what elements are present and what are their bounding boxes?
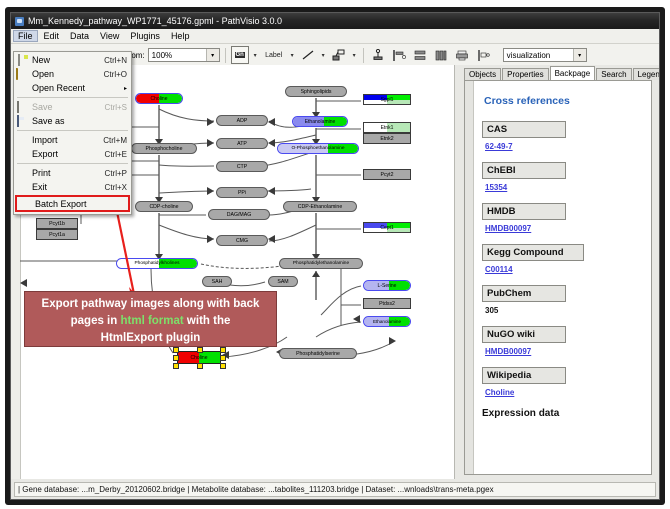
gene-product-tool[interactable]: Gn (231, 46, 249, 64)
file-menu-label: Import (32, 135, 103, 145)
file-menu-item-batch-export[interactable]: Batch Export (15, 195, 130, 212)
callout-highlight: html format (120, 315, 183, 327)
node-label: ADP (237, 118, 248, 124)
side-panel-region: Objects Properties Backpage Search Legen… (455, 65, 659, 479)
menu-help[interactable]: Help (166, 30, 195, 42)
node-ppi[interactable]: PPi (216, 187, 268, 198)
shape-caret-icon[interactable]: ▾ (351, 52, 358, 59)
node-label: Cept1 (380, 225, 393, 231)
import-icon (16, 135, 29, 146)
shape-tool[interactable] (330, 46, 348, 64)
node-gene-cept1[interactable]: Cept1 (363, 222, 411, 233)
menu-plugins[interactable]: Plugins (125, 30, 165, 42)
tab-properties[interactable]: Properties (502, 68, 548, 80)
visualization-combobox[interactable]: visualization ▾ (503, 48, 587, 62)
node-label: Ptdss2 (379, 301, 395, 307)
node-phosphatidylserine[interactable]: Phosphatidylserine (279, 348, 357, 359)
file-menu-accel: Ctrl+X (105, 183, 129, 192)
blank-icon (16, 182, 29, 193)
file-menu-label: Batch Export (35, 199, 126, 209)
statusbar-text: | Gene database: ...m_Derby_20120602.bri… (14, 482, 656, 497)
xref-label-hmdb: HMDB (482, 203, 566, 220)
visualization-chevron-down-icon[interactable]: ▾ (573, 49, 586, 61)
xref-value-nugo-wiki[interactable]: HMDB00097 (485, 347, 643, 356)
expression-data-title: Expression data (482, 408, 643, 419)
file-menu-label: Save (32, 102, 105, 112)
node-label: Etnk1 (381, 125, 394, 131)
file-menu-separator-3 (17, 163, 128, 164)
node-gene-pcyt2[interactable]: Pcyt2 (363, 169, 411, 180)
export-icon (16, 149, 29, 160)
xref-label-pubchem: PubChem (482, 285, 566, 302)
node-atp[interactable]: ATP (216, 138, 268, 149)
node-label: Pcyt2 (381, 172, 394, 178)
node-label: CMG (236, 238, 248, 244)
file-menu-item-open[interactable]: Open Ctrl+O (14, 67, 131, 81)
print-icon (455, 49, 469, 62)
node-cdp-choline[interactable]: CDP-choline (135, 201, 193, 212)
node-phosphatidylcholines[interactable]: Phosphatidylkholines (116, 258, 198, 269)
zoom-value: 100% (152, 51, 172, 60)
node-phosphatidylethanolamine[interactable]: Phosphatidylethanolamine (279, 258, 363, 269)
resize-handle-n[interactable] (197, 347, 203, 353)
align-columns-icon (434, 49, 448, 62)
window-title: Mm_Kennedy_pathway_WP1771_45176.gpml - P… (28, 16, 282, 26)
tab-backpage[interactable]: Backpage (550, 66, 596, 80)
file-menu-label: New (32, 55, 104, 65)
xref-link-chebi[interactable]: 15354 (485, 183, 507, 192)
anchor-tool-icon (371, 49, 385, 62)
node-sam[interactable]: SAM (268, 276, 298, 287)
node-cmg[interactable]: CMG (216, 235, 268, 246)
node-label: Ethanolamine (305, 119, 336, 125)
annotation-callout: Export pathway images along with back pa… (24, 291, 277, 347)
align-columns-tool[interactable] (432, 46, 450, 64)
xref-value-wikipedia[interactable]: Choline (485, 388, 643, 397)
resize-handle-nw[interactable] (173, 347, 179, 353)
callout-line-2-pre: pages in (71, 315, 121, 327)
cross-references-title: Cross references (484, 95, 643, 107)
node-label: Sphingolipids (301, 89, 332, 95)
node-sah[interactable]: SAH (202, 276, 232, 287)
node-ctp[interactable]: CTP (216, 161, 268, 172)
node-label: O-Phosphoethanolamine (291, 146, 344, 151)
tab-search[interactable]: Search (596, 68, 631, 80)
file-menu-label: Open Recent (32, 83, 124, 93)
file-menu-item-open-recent[interactable]: Open Recent ▸ (14, 81, 131, 95)
xref-label-wikipedia: Wikipedia (482, 367, 566, 384)
xref-link-kegg-compound[interactable]: C00114 (485, 265, 513, 274)
node-gene-sgpl1[interactable]: Sgpl1 (363, 94, 411, 105)
toolbar-separator-2 (363, 48, 364, 63)
node-label: CDP-choline (149, 204, 178, 210)
node-cdp-ethanolamine[interactable]: CDP-Ethanolamine (283, 201, 357, 212)
xref-label-nugo-wiki: NuGO wiki (482, 326, 566, 343)
xref-value-hmdb[interactable]: HMDB00097 (485, 224, 643, 233)
menubar: File Edit Data View Plugins Help (11, 29, 659, 44)
callout-line-1: Export pathway images along with back (25, 296, 276, 313)
order-icon (476, 49, 490, 62)
xref-value-pubchem: 305 (485, 306, 643, 315)
label-icon: Label (263, 52, 284, 59)
window-titlebar: Mm_Kennedy_pathway_WP1771_45176.gpml - P… (11, 13, 659, 29)
anchor-tool[interactable] (369, 46, 387, 64)
side-panel-tabs: Objects Properties Backpage Search Legen… (455, 65, 659, 80)
node-label: CTP (237, 164, 247, 170)
menu-file[interactable]: File (13, 30, 38, 42)
file-menu-item-save[interactable]: Save Ctrl+S (14, 100, 131, 114)
file-menu-item-import[interactable]: Import Ctrl+M (14, 133, 131, 147)
line-caret-icon[interactable]: ▾ (320, 52, 327, 59)
file-menu-item-print[interactable]: Print Ctrl+P (14, 166, 131, 180)
file-menu-accel: Ctrl+P (105, 169, 129, 178)
blank-icon (19, 198, 32, 209)
menu-edit[interactable]: Edit (39, 30, 65, 42)
submenu-chevron-right-icon: ▸ (124, 85, 129, 92)
order-tool[interactable] (474, 46, 492, 64)
print-tool[interactable] (453, 46, 471, 64)
file-menu-item-exit[interactable]: Exit Ctrl+X (14, 180, 131, 194)
callout-line-2: pages in html format with the (25, 313, 276, 330)
chevron-down-icon[interactable]: ▾ (206, 49, 219, 61)
node-l-serine[interactable]: L-Serine (363, 280, 411, 291)
xref-value-cas[interactable]: 62-49-7 (485, 142, 643, 151)
file-menu-accel: Ctrl+M (103, 136, 129, 145)
file-menu-separator-2 (17, 130, 128, 131)
xref-link-hmdb[interactable]: HMDB00097 (485, 224, 531, 233)
file-menu-label: Export (32, 149, 105, 159)
file-menu-label: Open (32, 69, 104, 79)
node-dag-mag[interactable]: DAG/MAG (208, 209, 270, 220)
menu-data[interactable]: Data (65, 30, 94, 42)
label-caret-icon[interactable]: ▾ (289, 52, 296, 59)
resize-handle-e[interactable] (220, 355, 226, 361)
node-label: CDP-Ethanolamine (298, 204, 342, 210)
node-label: Phosphatidylserine (296, 351, 340, 357)
resize-handle-w[interactable] (173, 355, 179, 361)
node-label: ATP (237, 141, 247, 147)
save-as-disk-icon (16, 116, 29, 127)
save-disk-icon (16, 102, 29, 113)
node-label: L-Serine (378, 283, 397, 289)
gene-product-icon: Gn (235, 52, 245, 58)
line-tool[interactable] (299, 46, 317, 64)
node-ethanolamine[interactable]: Ethanolamine (292, 116, 348, 127)
align-left-icon (392, 49, 406, 62)
pathvisio-window: Mm_Kennedy_pathway_WP1771_45176.gpml - P… (10, 12, 660, 500)
node-label: PPi (238, 190, 246, 196)
label-tool[interactable]: Label (262, 46, 286, 64)
file-menu-item-new[interactable]: New Ctrl+N (14, 53, 131, 67)
menu-view[interactable]: View (95, 30, 124, 42)
blank-icon (16, 83, 29, 94)
node-gene-pcyt1b[interactable]: Pcyt1b (36, 218, 78, 229)
resize-handle-se[interactable] (220, 363, 226, 369)
line-tool-icon (301, 49, 315, 61)
file-menu-label: Save as (32, 116, 127, 126)
node-gene-etnk1[interactable]: Etnk1 (363, 122, 411, 133)
toolbar-separator (225, 48, 226, 63)
resize-handle-sw[interactable] (173, 363, 179, 369)
resize-handle-ne[interactable] (220, 347, 226, 353)
node-label: Pcyt1a (49, 232, 65, 238)
file-menu-dropdown[interactable]: New Ctrl+N Open Ctrl+O Open Recent ▸ Sav… (13, 51, 132, 215)
node-gene-pcyt1a[interactable]: Pcyt1a (36, 229, 78, 240)
node-ethanolamine-right[interactable]: Ethanolamine (363, 316, 411, 327)
xref-value-chebi[interactable]: 15354 (485, 183, 643, 192)
node-label: DAG/MAG (227, 212, 252, 218)
visualization-value: visualization (507, 51, 551, 60)
node-label: SAM (277, 279, 288, 285)
node-choline-selected[interactable]: Choline (177, 351, 221, 364)
gene-product-caret-icon[interactable]: ▾ (252, 52, 259, 59)
align-rows-tool[interactable] (411, 46, 429, 64)
xref-link-wikipedia[interactable]: Choline (485, 388, 514, 397)
node-label: Pcyt1b (49, 221, 65, 227)
file-menu-accel: Ctrl+S (105, 103, 129, 112)
file-menu-label: Exit (32, 182, 105, 192)
node-label: Choline (191, 355, 208, 361)
callout-line-3: HtmlExport plugin (25, 330, 276, 347)
node-adp[interactable]: ADP (216, 115, 268, 126)
open-folder-icon (16, 69, 29, 80)
xref-link-nugo-wiki[interactable]: HMDB00097 (485, 347, 531, 356)
shape-tool-icon (332, 49, 346, 61)
backpage-panel: Cross references CAS 62-49-7 ChEBI 15354… (464, 80, 652, 475)
new-document-icon (16, 55, 29, 66)
align-left-tool[interactable] (390, 46, 408, 64)
xref-link-cas[interactable]: 62-49-7 (485, 142, 513, 151)
node-label: Choline (151, 96, 168, 102)
file-menu-accel: Ctrl+N (104, 56, 129, 65)
file-menu-separator-1 (17, 97, 128, 98)
file-menu-item-export[interactable]: Export Ctrl+E (14, 147, 131, 161)
node-label: Etnk2 (380, 136, 393, 142)
file-menu-accel: Ctrl+E (105, 150, 129, 159)
node-label: Sgpl1 (381, 97, 394, 103)
pathvisio-app-icon (15, 17, 24, 26)
file-menu-accel: Ctrl+O (104, 70, 129, 79)
side-panel-divider[interactable] (465, 81, 474, 474)
zoom-combobox[interactable]: 100% ▾ (148, 48, 220, 62)
align-rows-icon (413, 49, 427, 62)
node-gene-ptdss2[interactable]: Ptdss2 (363, 298, 411, 309)
tab-objects[interactable]: Objects (464, 68, 501, 80)
node-label: Phosphatidylethanolamine (293, 261, 349, 266)
xref-value-kegg-compound[interactable]: C00114 (485, 265, 643, 274)
node-label: Phosphocholine (146, 146, 183, 152)
tab-legend[interactable]: Legend (633, 68, 660, 80)
callout-line-2-post: with the (184, 315, 231, 327)
file-menu-label: Print (32, 168, 105, 178)
node-label: Phosphatidylkholines (134, 261, 179, 266)
node-phosphocholine[interactable]: Phosphocholine (131, 143, 197, 154)
statusbar: | Gene database: ...m_Derby_20120602.bri… (11, 479, 659, 499)
backpage-content: Cross references CAS 62-49-7 ChEBI 15354… (474, 81, 651, 474)
node-gene-etnk2[interactable]: Etnk2 (363, 133, 411, 144)
node-label: Ethanolamine (373, 319, 401, 324)
xref-label-chebi: ChEBI (482, 162, 566, 179)
node-choline-top[interactable]: Choline (135, 93, 183, 104)
blank-icon (16, 168, 29, 179)
node-o-phosphoethanolamine[interactable]: O-Phosphoethanolamine (277, 143, 359, 154)
node-label: SAH (212, 279, 223, 285)
resize-handle-s[interactable] (197, 363, 203, 369)
file-menu-item-save-as[interactable]: Save as (14, 114, 131, 128)
xref-label-kegg-compound: Kegg Compound (482, 244, 584, 261)
node-sphingolipids[interactable]: Sphingolipids (285, 86, 347, 97)
xref-label-cas: CAS (482, 121, 566, 138)
